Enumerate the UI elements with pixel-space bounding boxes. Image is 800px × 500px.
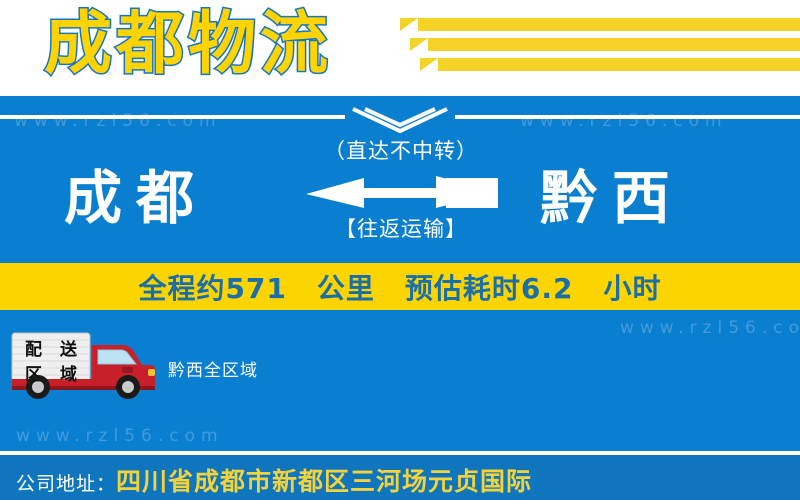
route-middle: （直达不中转） 【往返运输】 xyxy=(286,136,516,276)
page-title: 成都物流 xyxy=(44,2,332,88)
chevron-down-icon xyxy=(345,105,455,137)
distance-unit: 公里 xyxy=(317,267,375,307)
duration-value: 预估耗时6.2 xyxy=(405,267,574,307)
distance-value: 全程约571 xyxy=(138,267,286,307)
header-band: 成都物流 xyxy=(0,0,800,96)
truck-box-char: 送 xyxy=(60,335,77,360)
truck-box-char: 域 xyxy=(60,360,77,385)
decorative-stripes xyxy=(410,16,800,84)
duration-unit: 小时 xyxy=(604,267,662,307)
route-section: 成都 黔西 （直达不中转） 【往返运输】 xyxy=(0,154,800,264)
divider-notch xyxy=(345,105,455,137)
truck-box-char: 配 xyxy=(25,335,42,360)
stripe-1 xyxy=(418,18,800,31)
address-band: 公司地址：四川省成都市新都区三河场元贞国际 xyxy=(0,455,800,500)
truck-box-char: 区 xyxy=(25,360,42,385)
metrics-bar: 全程约571 公里 预估耗时6.2 小时 xyxy=(0,263,800,310)
delivery-section: 配 送 区 域 黔西全区域 xyxy=(0,321,800,411)
delivery-truck-icon: 配 送 区 域 xyxy=(10,329,158,399)
stripe-2 xyxy=(428,38,800,51)
watermark-text: www.rzl56.com xyxy=(520,111,728,131)
watermark-text: www.rzl56.com xyxy=(14,111,222,131)
logistics-banner: 成都物流 www.rzl56.com www.rzl56.com www.rzl… xyxy=(0,0,800,500)
address-value: 四川省成都市新都区三河场元贞国际 xyxy=(116,467,532,496)
delivery-area-label: 黔西全区域 xyxy=(168,356,258,381)
bidirectional-arrow-icon xyxy=(286,172,516,212)
destination-city: 黔西 xyxy=(540,160,684,236)
address-label: 公司地址： xyxy=(16,473,116,495)
direct-note: （直达不中转） xyxy=(286,136,516,166)
roundtrip-note: 【往返运输】 xyxy=(286,214,516,244)
watermark-text: www.rzl56.com xyxy=(16,426,224,446)
main-blue-panel: www.rzl56.com www.rzl56.com www.rzl56.co… xyxy=(0,96,800,453)
stripe-3 xyxy=(438,58,800,71)
origin-city: 成都 xyxy=(64,160,208,236)
